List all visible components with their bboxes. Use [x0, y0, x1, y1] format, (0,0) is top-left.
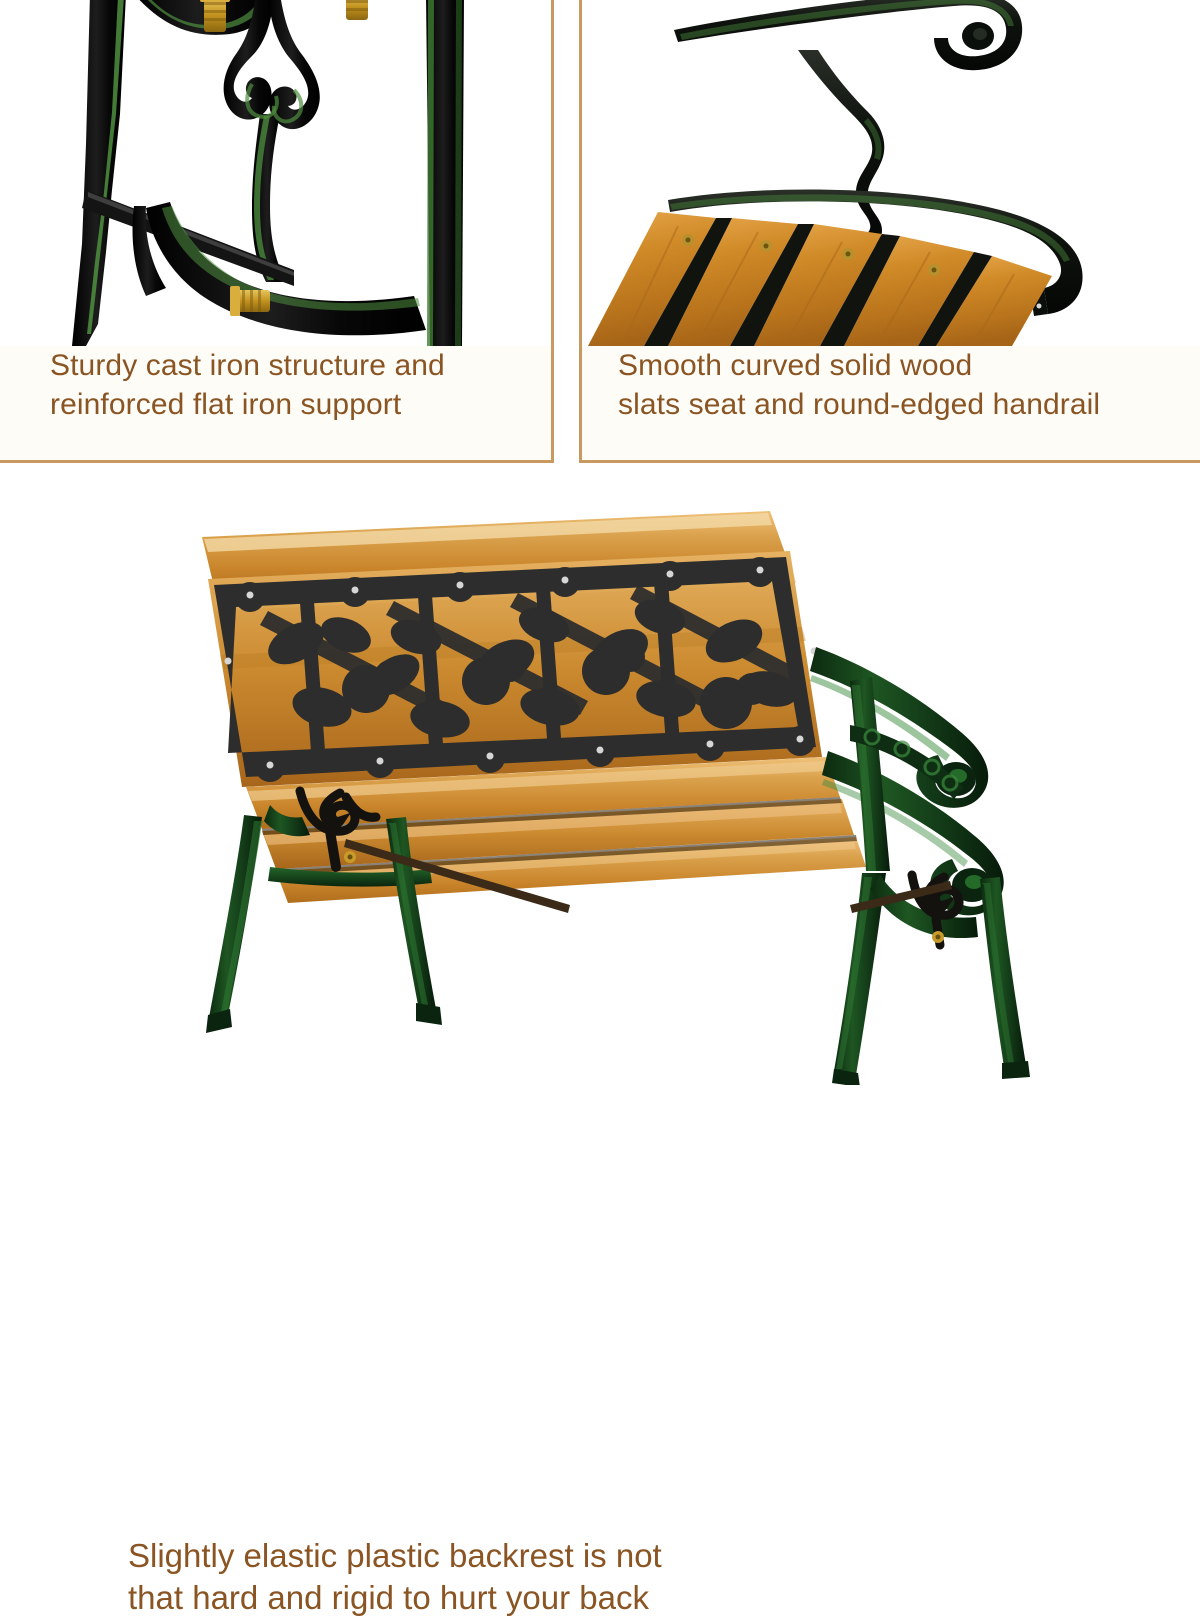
wood-slats-handrail-photo	[582, 0, 1200, 346]
caption-line: Smooth curved solid wood	[618, 346, 1200, 385]
cast-iron-structure-photo	[0, 0, 551, 346]
caption-line: Slightly elastic plastic backrest is not	[128, 1535, 662, 1577]
cast-iron-closeup-illustration	[0, 0, 551, 346]
feature-panels-row: Sturdy cast iron structure and reinforce…	[0, 0, 1200, 465]
screw-icon	[760, 240, 772, 252]
wood-slats-closeup-illustration	[582, 0, 1200, 346]
caption-line: Sturdy cast iron structure and	[50, 346, 551, 385]
screw-icon	[842, 248, 854, 260]
full-bench-photo	[150, 475, 1080, 1085]
feature-panel-wood-slats: Smooth curved solid wood slats seat and …	[579, 0, 1200, 463]
brass-bolt-icon	[346, 0, 368, 20]
caption-line: reinforced flat iron support	[50, 385, 551, 424]
full-bench-illustration	[150, 475, 1080, 1085]
caption-backrest: Slightly elastic plastic backrest is not…	[128, 1535, 662, 1619]
screw-icon	[928, 264, 940, 276]
caption-line: slats seat and round-edged handrail	[618, 385, 1200, 424]
caption-cast-iron: Sturdy cast iron structure and reinforce…	[0, 346, 551, 424]
caption-line: that hard and rigid to hurt your back	[128, 1577, 662, 1619]
brass-bolt-icon	[230, 286, 270, 316]
caption-wood-slats: Smooth curved solid wood slats seat and …	[582, 346, 1200, 424]
screw-icon	[682, 234, 694, 246]
feature-panel-cast-iron: Sturdy cast iron structure and reinforce…	[0, 0, 554, 463]
brass-bolt-icon	[200, 0, 230, 32]
hero-section: Slightly elastic plastic backrest is not…	[0, 465, 1200, 1186]
